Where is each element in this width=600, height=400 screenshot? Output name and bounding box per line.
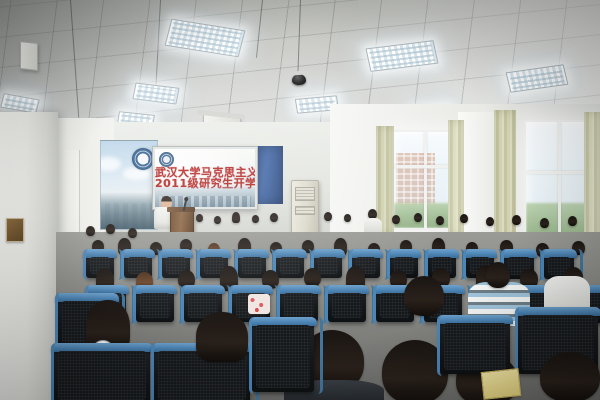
event-backdrop-banner: [100, 140, 158, 230]
auditorium-seat-foreground[interactable]: [54, 346, 150, 400]
auditorium-seat-foreground[interactable]: [252, 320, 314, 392]
audience-head: [196, 214, 203, 222]
audience-head: [414, 213, 422, 222]
audience-head: [486, 262, 510, 288]
seat-mesh-back: [58, 351, 146, 400]
audience-head-foreground: [196, 312, 248, 362]
audience-head: [232, 212, 240, 223]
lecture-hall-photo: 武汉大学马克思主义学院 2011级研究生开学典礼: [0, 0, 600, 400]
seat-mesh-back: [332, 293, 362, 318]
building-outside-window: [396, 153, 434, 205]
audience-head: [106, 224, 115, 234]
auditorium-seat[interactable]: [276, 252, 304, 278]
left-pillar: [0, 112, 58, 400]
audience-head: [252, 215, 259, 223]
audience-head: [540, 218, 549, 228]
audience-head: [128, 228, 137, 238]
window-mullion: [424, 132, 427, 228]
cloud-graphic: [100, 157, 121, 171]
window-mullion: [558, 122, 561, 244]
seat-mesh-back: [318, 257, 338, 274]
audience-head: [86, 226, 95, 236]
cloud-graphic: [123, 167, 151, 179]
auditorium-seat[interactable]: [238, 252, 266, 278]
audience-head-foreground: [404, 276, 444, 316]
audience-head: [512, 215, 521, 225]
dome-security-camera: [292, 74, 306, 85]
window-mullion: [394, 165, 456, 168]
floor-standing-air-conditioner: [291, 180, 319, 234]
seat-mesh-back: [140, 293, 170, 318]
seat-mesh-back: [444, 323, 506, 370]
audience-head-foreground: [540, 352, 600, 400]
seat-mesh-back: [280, 257, 300, 274]
audience-head-glasses: [382, 340, 448, 400]
wall-column-right: [458, 112, 498, 252]
auditorium-seat[interactable]: [328, 288, 366, 322]
floral-bag: [248, 294, 270, 314]
window-curtain-right-edge: [584, 112, 600, 244]
auditorium-seat[interactable]: [136, 288, 174, 322]
ac-vent-grille: [295, 206, 315, 215]
seat-mesh-back: [256, 325, 310, 388]
audience-head: [568, 216, 577, 226]
wall-plaque: [6, 218, 24, 242]
audience-head: [270, 213, 278, 222]
audience-shoulders: [364, 218, 382, 232]
lectern-top: [167, 207, 195, 212]
yellow-notepad: [481, 368, 522, 400]
audience-head: [436, 216, 444, 225]
audience-head: [324, 212, 332, 221]
seat-mesh-back: [284, 293, 314, 318]
auditorium-seat-foreground[interactable]: [440, 318, 510, 374]
ac-vent-grille: [295, 187, 315, 200]
audience-head: [344, 214, 351, 222]
seat-mesh-back: [242, 257, 262, 274]
audience-head: [214, 216, 221, 224]
audience-head: [460, 214, 468, 223]
audience-head: [486, 217, 494, 226]
wall-speaker: [20, 41, 38, 71]
audience-head: [392, 215, 400, 224]
